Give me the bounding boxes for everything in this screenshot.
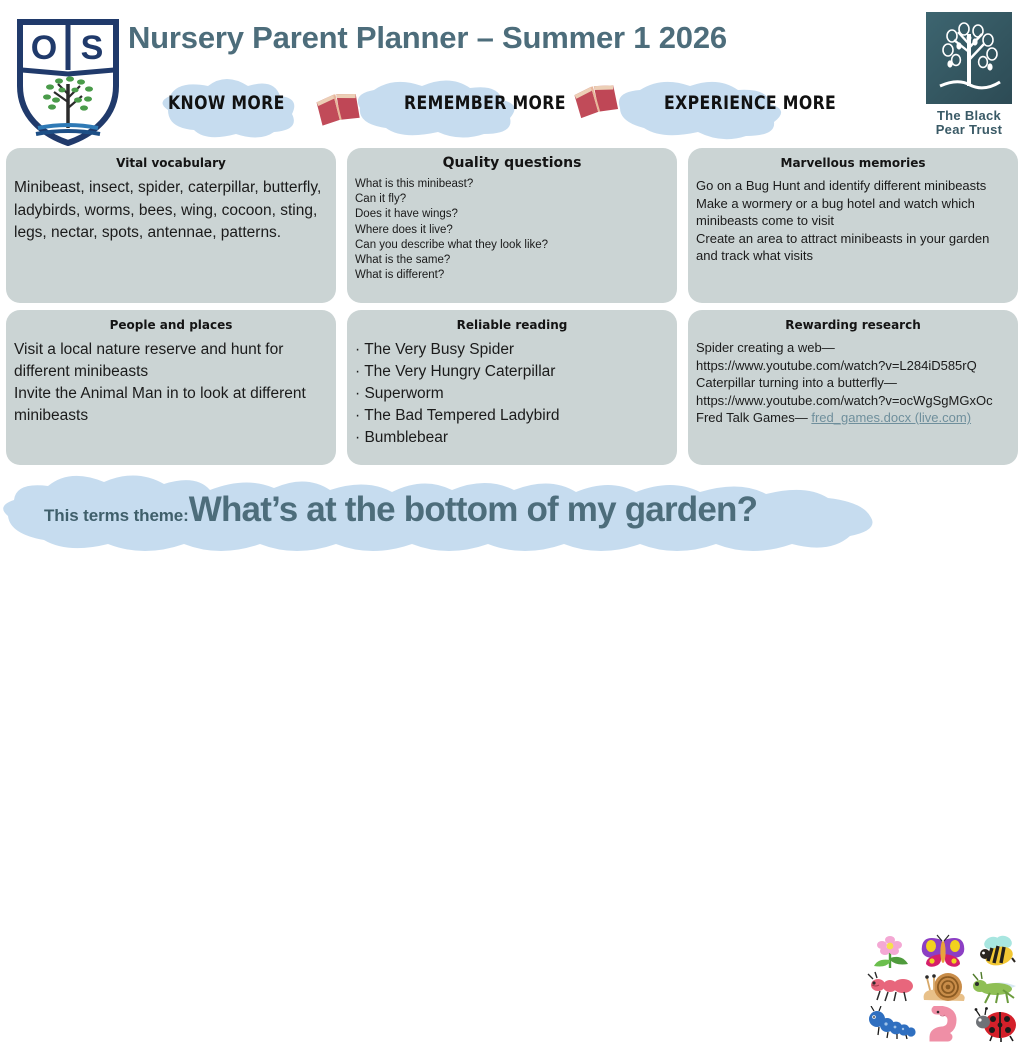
card-title: Quality questions [355,156,669,171]
planner-grid: Vital vocabulary Minibeast, insect, spid… [6,148,1018,466]
card-title: Marvellous memories [696,156,1010,171]
trust-name-line-2: Pear Trust [936,122,1003,137]
card-body-research: Spider creating a web— https://www.youtu… [696,339,1010,427]
page-header: O S Nursery Parent Planner – Summer 1 20… [0,0,1024,148]
card-quality-questions: Quality questions What is this minibeast… [347,148,677,303]
trust-name: The Black Pear Trust [920,109,1018,137]
card-body: Visit a local nature reserve and hunt fo… [14,339,328,427]
worm-icon [918,1006,970,1042]
trust-logo: The Black Pear Trust [920,12,1018,144]
card-people-and-places: People and places Visit a local nature r… [6,310,336,465]
snail-icon [918,970,970,1006]
planner-page: O S Nursery Parent Planner – Summer 1 20… [0,0,1024,576]
bee-icon [970,934,1022,970]
ant-icon [866,970,918,1006]
tagline-experience-more: EXPERIENCE MORE [664,92,836,114]
card-title: People and places [14,318,328,333]
card-rewarding-research: Rewarding research Spider creating a web… [688,310,1018,465]
card-vital-vocabulary: Vital vocabulary Minibeast, insect, spid… [6,148,336,303]
grasshopper-icon [970,970,1022,1006]
open-book-icon [313,86,363,128]
tagline-remember-more: REMEMBER MORE [404,92,566,114]
black-pear-tree-icon [926,12,1012,104]
card-marvellous-memories: Marvellous memories Go on a Bug Hunt and… [688,148,1018,303]
card-body: · The Very Busy Spider · The Very Hungry… [355,339,669,449]
open-book-icon [571,77,622,121]
card-body: What is this minibeast? Can it fly? Does… [355,177,669,283]
butterfly-icon [918,934,970,970]
card-title: Reliable reading [355,318,669,333]
theme-banner: This terms theme: What’s at the bottom o… [0,468,1024,576]
ladybird-icon [970,1006,1022,1042]
banner-text-group: This terms theme: What’s at the bottom o… [44,490,757,530]
trust-name-line-1: The Black [937,108,1001,123]
svg-text:O: O [31,29,57,67]
tagline-strip: KNOW MORE REMEMBER MORE EXPERIENCE MORE [150,78,910,140]
caterpillar-icon [866,1006,918,1042]
card-title: Rewarding research [696,318,1010,333]
banner-theme-text: What’s at the bottom of my garden? [189,490,757,530]
school-crest-icon: O S [14,12,122,146]
fred-games-link[interactable]: fred_games.docx (live.com) [811,410,971,425]
flower-icon [866,934,918,970]
card-body: Go on a Bug Hunt and identify different … [696,177,1010,265]
card-body: Minibeast, insect, spider, caterpillar, … [14,177,328,245]
banner-lead-label: This terms theme: [44,506,189,526]
card-title: Vital vocabulary [14,156,328,171]
svg-text:S: S [81,29,104,67]
card-reliable-reading: Reliable reading · The Very Busy Spider … [347,310,677,465]
tagline-know-more: KNOW MORE [168,92,285,114]
minibeast-clipart-group [866,934,1022,1042]
page-title: Nursery Parent Planner – Summer 1 2026 [128,20,908,56]
